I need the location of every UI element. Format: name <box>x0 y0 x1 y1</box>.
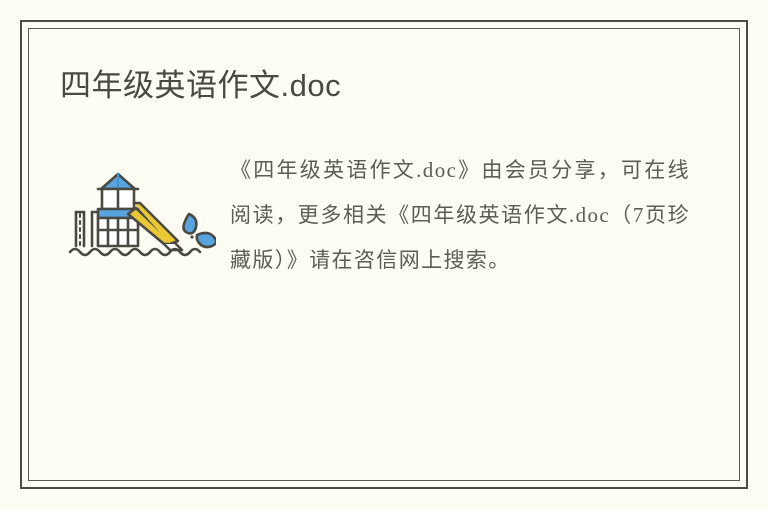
preview-content: 四年级英语作文.doc <box>28 28 740 481</box>
document-preview-page: 四年级英语作文.doc <box>0 0 768 510</box>
page-title: 四年级英语作文.doc <box>60 66 341 106</box>
playground-water-slide-icon <box>56 172 216 262</box>
document-description: 《四年级英语作文.doc》由会员分享，可在线阅读，更多相关《四年级英语作文.do… <box>230 148 690 283</box>
